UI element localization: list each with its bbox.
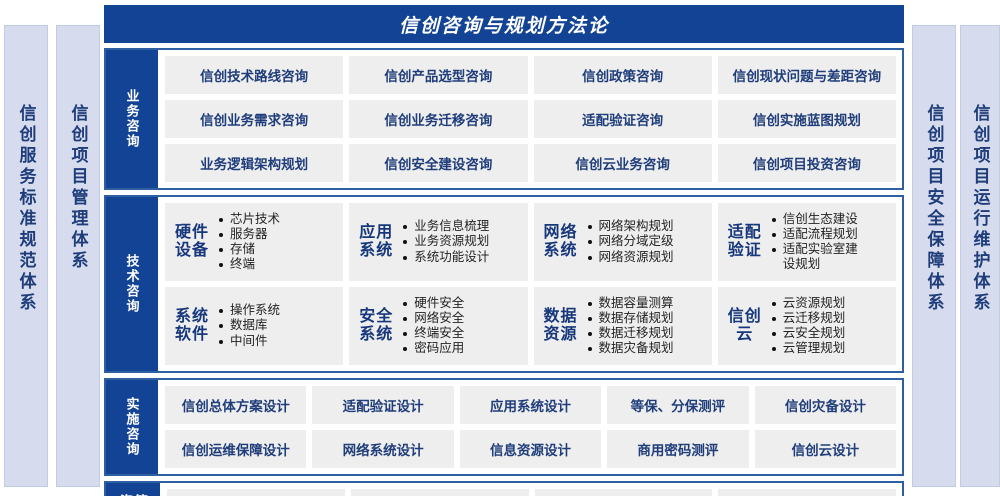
topic-chip[interactable]: 信创运维保障设计 bbox=[165, 430, 306, 468]
tech-card-list-item: 适配实验室建 设规划 bbox=[771, 242, 890, 273]
tech-card-list: 操作系统数据库中间件 bbox=[218, 303, 337, 349]
center-column: 信创咨询与规划方法论 业务咨询信创技术路线咨询信创产品选型咨询信创政策咨询信创现… bbox=[104, 5, 904, 491]
tech-card[interactable]: 系统 软件操作系统数据库中间件 bbox=[165, 287, 343, 365]
topic-chip[interactable]: 信创现状问题与差距咨询 bbox=[718, 56, 896, 94]
band-body-consulting-management: 信创咨询设计规范信创安全运行管理信创实施项目管理信创运维服务保障 bbox=[160, 483, 902, 496]
tech-card-title: 系统 软件 bbox=[175, 308, 209, 344]
tech-card-list: 云资源规划云迁移规划云安全规划云管理规划 bbox=[771, 296, 890, 357]
band-label-text: 技术咨询 bbox=[126, 254, 139, 314]
pillar-service-standard-system: 信创服务标准规范体系 bbox=[4, 25, 48, 487]
tech-card-list-item: 终端安全 bbox=[402, 326, 521, 341]
pillar-label: 信创项目运行维护体系 bbox=[972, 104, 989, 314]
tech-card[interactable]: 网络 系统网络架构规划网络分域定级网络资源规划 bbox=[534, 203, 712, 281]
tech-card-list-item: 数据存储规划 bbox=[587, 311, 706, 326]
topic-chip[interactable]: 信创产品选型咨询 bbox=[349, 56, 527, 94]
tech-card-title: 数据 资源 bbox=[544, 308, 578, 344]
tech-card[interactable]: 数据 资源数据容量测算数据存储规划数据迁移规划数据灾备规划 bbox=[534, 287, 712, 365]
tech-card-list-item: 终端 bbox=[218, 257, 337, 272]
tech-card[interactable]: 应用 系统业务信息梳理业务资源规划系统功能设计 bbox=[349, 203, 527, 281]
topic-chip[interactable]: 适配验证咨询 bbox=[534, 100, 712, 138]
band-label-technical-consulting: 技术咨询 bbox=[106, 197, 158, 371]
topic-chip[interactable]: 业务逻辑架构规划 bbox=[165, 144, 343, 182]
tech-card-title: 信创 云 bbox=[728, 308, 762, 344]
tech-card-list-item: 业务信息梳理 bbox=[402, 219, 521, 234]
tech-card-list-item: 数据容量测算 bbox=[587, 296, 706, 311]
topic-chip[interactable]: 信创实施蓝图规划 bbox=[718, 100, 896, 138]
tech-card-list-item: 网络资源规划 bbox=[587, 250, 706, 265]
tech-card-list-item: 数据灾备规划 bbox=[587, 341, 706, 356]
tech-card-list-item: 服务器 bbox=[218, 227, 337, 242]
band-label-consulting-management: 咨询管理 bbox=[106, 483, 160, 496]
topic-chip[interactable]: 信创运维服务保障 bbox=[718, 489, 896, 496]
band-label-business-consulting: 业务咨询 bbox=[106, 50, 158, 188]
topic-chip[interactable]: 信创总体方案设计 bbox=[165, 386, 306, 424]
topic-chip[interactable]: 信创云设计 bbox=[755, 430, 896, 468]
tech-card-list: 硬件安全网络安全终端安全密码应用 bbox=[402, 296, 521, 357]
tech-card-list-item: 云管理规划 bbox=[771, 341, 890, 356]
tech-card[interactable]: 信创 云云资源规划云迁移规划云安全规划云管理规划 bbox=[718, 287, 896, 365]
tech-card-list: 数据容量测算数据存储规划数据迁移规划数据灾备规划 bbox=[587, 296, 706, 357]
topic-chip[interactable]: 信创技术路线咨询 bbox=[165, 56, 343, 94]
pillar-project-management-system: 信创项目管理体系 bbox=[56, 25, 100, 487]
tech-card-list: 信创生态建设适配流程规划适配实验室建 设规划 bbox=[771, 212, 890, 273]
tech-card-list-item: 芯片技术 bbox=[218, 212, 337, 227]
tech-card-list-item: 云安全规划 bbox=[771, 326, 890, 341]
tech-card-list-item: 操作系统 bbox=[218, 303, 337, 318]
topic-chip[interactable]: 信创项目投资咨询 bbox=[718, 144, 896, 182]
tech-card-list-item: 中间件 bbox=[218, 334, 337, 349]
row: 业务逻辑架构规划信创安全建设咨询信创云业务咨询信创项目投资咨询 bbox=[165, 144, 896, 182]
tech-card-list-item: 数据库 bbox=[218, 318, 337, 333]
band-label-text: 业务咨询 bbox=[126, 89, 139, 149]
topic-chip[interactable]: 信创业务需求咨询 bbox=[165, 100, 343, 138]
tech-card-list-item: 业务资源规划 bbox=[402, 234, 521, 249]
topic-chip[interactable]: 适配验证设计 bbox=[312, 386, 453, 424]
page-title: 信创咨询与规划方法论 bbox=[104, 5, 904, 43]
tech-card[interactable]: 硬件 设备芯片技术服务器存储终端 bbox=[165, 203, 343, 281]
pillar-label: 信创项目管理体系 bbox=[70, 104, 87, 272]
topic-chip[interactable]: 信创安全运行管理 bbox=[351, 489, 529, 496]
tech-card-title: 适配 验证 bbox=[728, 224, 762, 260]
band-technical-consulting: 技术咨询硬件 设备芯片技术服务器存储终端应用 系统业务信息梳理业务资源规划系统功… bbox=[104, 195, 904, 373]
tech-card[interactable]: 安全 系统硬件安全网络安全终端安全密码应用 bbox=[349, 287, 527, 365]
band-consulting-management: 咨询管理信创咨询设计规范信创安全运行管理信创实施项目管理信创运维服务保障 bbox=[104, 481, 904, 496]
tech-card-title: 应用 系统 bbox=[359, 224, 393, 260]
topic-chip[interactable]: 信创政策咨询 bbox=[534, 56, 712, 94]
tech-card-title: 硬件 设备 bbox=[175, 224, 209, 260]
tech-card[interactable]: 适配 验证信创生态建设适配流程规划适配实验室建 设规划 bbox=[718, 203, 896, 281]
tech-card-list: 芯片技术服务器存储终端 bbox=[218, 212, 337, 273]
topic-chip[interactable]: 信创云业务咨询 bbox=[534, 144, 712, 182]
tech-card-title: 网络 系统 bbox=[544, 224, 578, 260]
row: 硬件 设备芯片技术服务器存储终端应用 系统业务信息梳理业务资源规划系统功能设计网… bbox=[165, 203, 896, 281]
tech-card-title: 安全 系统 bbox=[359, 308, 393, 344]
pillar-label: 信创服务标准规范体系 bbox=[18, 104, 35, 314]
row: 系统 软件操作系统数据库中间件安全 系统硬件安全网络安全终端安全密码应用数据 资… bbox=[165, 287, 896, 365]
tech-card-list: 业务信息梳理业务资源规划系统功能设计 bbox=[402, 219, 521, 265]
bands-container: 业务咨询信创技术路线咨询信创产品选型咨询信创政策咨询信创现状问题与差距咨询信创业… bbox=[104, 48, 904, 496]
pillar-label: 信创项目安全保障体系 bbox=[926, 104, 943, 314]
tech-card-list-item: 网络架构规划 bbox=[587, 219, 706, 234]
pillar-project-ops-system: 信创项目运行维护体系 bbox=[960, 25, 1000, 487]
band-body-implementation-consulting: 信创总体方案设计适配验证设计应用系统设计等保、分保测评信创灾备设计信创运维保障设… bbox=[158, 380, 902, 474]
tech-card-list-item: 适配流程规划 bbox=[771, 227, 890, 242]
row: 信创总体方案设计适配验证设计应用系统设计等保、分保测评信创灾备设计 bbox=[165, 386, 896, 424]
band-body-business-consulting: 信创技术路线咨询信创产品选型咨询信创政策咨询信创现状问题与差距咨询信创业务需求咨… bbox=[158, 50, 902, 188]
topic-chip[interactable]: 信创业务迁移咨询 bbox=[349, 100, 527, 138]
tech-card-list-item: 网络安全 bbox=[402, 311, 521, 326]
row: 信创业务需求咨询信创业务迁移咨询适配验证咨询信创实施蓝图规划 bbox=[165, 100, 896, 138]
topic-chip[interactable]: 信息资源设计 bbox=[460, 430, 601, 468]
tech-card-list-item: 密码应用 bbox=[402, 341, 521, 356]
topic-chip[interactable]: 信创实施项目管理 bbox=[535, 489, 713, 496]
tech-card-list-item: 系统功能设计 bbox=[402, 250, 521, 265]
tech-card-list-item: 存储 bbox=[218, 242, 337, 257]
topic-chip[interactable]: 网络系统设计 bbox=[312, 430, 453, 468]
tech-card-list-item: 云迁移规划 bbox=[771, 311, 890, 326]
tech-card-list-item: 云资源规划 bbox=[771, 296, 890, 311]
band-business-consulting: 业务咨询信创技术路线咨询信创产品选型咨询信创政策咨询信创现状问题与差距咨询信创业… bbox=[104, 48, 904, 190]
band-label-text: 实施咨询 bbox=[126, 397, 139, 457]
topic-chip[interactable]: 应用系统设计 bbox=[460, 386, 601, 424]
topic-chip[interactable]: 商用密码测评 bbox=[607, 430, 748, 468]
tech-card-list: 网络架构规划网络分域定级网络资源规划 bbox=[587, 219, 706, 265]
topic-chip[interactable]: 信创咨询设计规范 bbox=[167, 489, 345, 496]
topic-chip[interactable]: 信创灾备设计 bbox=[755, 386, 896, 424]
topic-chip[interactable]: 等保、分保测评 bbox=[607, 386, 748, 424]
topic-chip[interactable]: 信创安全建设咨询 bbox=[349, 144, 527, 182]
tech-card-list-item: 信创生态建设 bbox=[771, 212, 890, 227]
row: 信创咨询设计规范信创安全运行管理信创实施项目管理信创运维服务保障 bbox=[167, 489, 896, 496]
diagram-root: 信创服务标准规范体系 信创项目管理体系 信创项目安全保障体系 信创项目运行维护体… bbox=[0, 0, 1000, 496]
pillar-project-security-system: 信创项目安全保障体系 bbox=[912, 25, 956, 487]
band-implementation-consulting: 实施咨询信创总体方案设计适配验证设计应用系统设计等保、分保测评信创灾备设计信创运… bbox=[104, 378, 904, 476]
band-body-technical-consulting: 硬件 设备芯片技术服务器存储终端应用 系统业务信息梳理业务资源规划系统功能设计网… bbox=[158, 197, 902, 371]
row: 信创技术路线咨询信创产品选型咨询信创政策咨询信创现状问题与差距咨询 bbox=[165, 56, 896, 94]
tech-card-list-item: 数据迁移规划 bbox=[587, 326, 706, 341]
tech-card-list-item: 硬件安全 bbox=[402, 296, 521, 311]
row: 信创运维保障设计网络系统设计信息资源设计商用密码测评信创云设计 bbox=[165, 430, 896, 468]
band-label-implementation-consulting: 实施咨询 bbox=[106, 380, 158, 474]
tech-card-list-item: 网络分域定级 bbox=[587, 234, 706, 249]
